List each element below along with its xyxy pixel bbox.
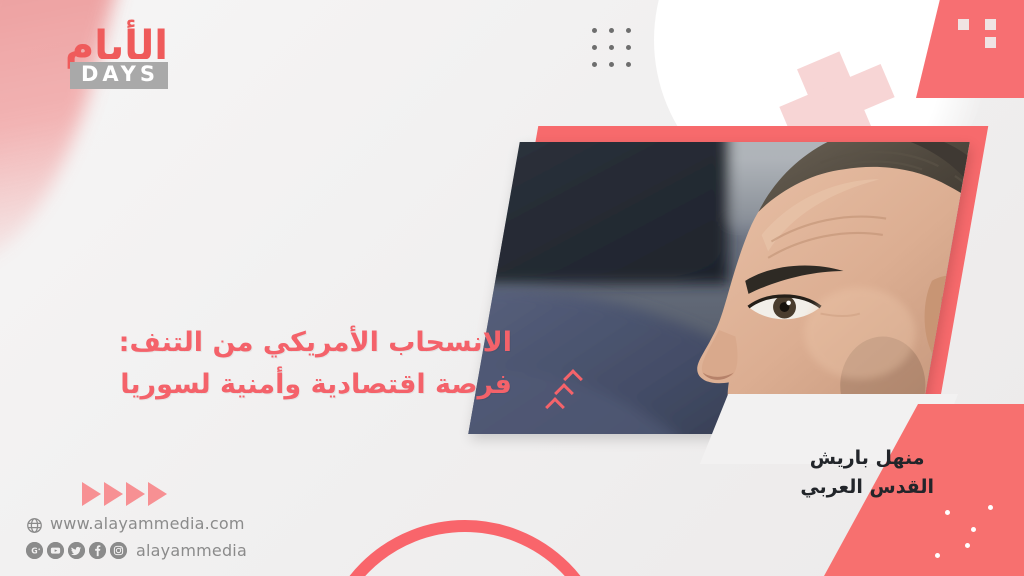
corner-dot: [935, 553, 940, 558]
social-handle[interactable]: alayammedia: [136, 538, 247, 564]
grid-dot: [592, 45, 597, 50]
dot-grid-decoration: [592, 28, 643, 79]
headline-line-1: الانسحاب الأمريكي من التنف:: [119, 327, 512, 358]
website-url[interactable]: www.alayammedia.com: [50, 511, 245, 537]
facebook-icon[interactable]: [89, 542, 106, 559]
grid-dot: [626, 62, 631, 67]
grid-dot: [626, 45, 631, 50]
corner-square-icon: [985, 37, 996, 48]
headline-line-2: فرصة اقتصادية وأمنية لسوريا: [72, 364, 512, 406]
grid-dot: [609, 62, 614, 67]
grid-dot: [592, 28, 597, 33]
author-credit: منهل باريش القدس العربي: [800, 444, 934, 502]
corner-dot: [965, 543, 970, 548]
youtube-icon[interactable]: [47, 542, 64, 559]
news-poster: الأيام DAYS الانسحاب الأمريكي من التنف: …: [0, 0, 1024, 576]
social-row[interactable]: G: [26, 538, 247, 564]
grid-dot: [626, 28, 631, 33]
play-arrow-icon: [82, 482, 101, 506]
headline: الانسحاب الأمريكي من التنف: فرصة اقتصادي…: [72, 322, 512, 406]
portrait-photo: [468, 142, 969, 434]
corner-dot: [971, 527, 976, 532]
corner-square-icon: [985, 19, 996, 30]
instagram-icon[interactable]: [110, 542, 127, 559]
footer: www.alayammedia.com G: [26, 511, 247, 564]
grid-dot: [609, 28, 614, 33]
top-right-red-shape: [916, 0, 1024, 98]
grid-dot: [609, 45, 614, 50]
twitter-icon[interactable]: [68, 542, 85, 559]
play-arrow-icon: [126, 482, 145, 506]
author-source: القدس العربي: [800, 473, 934, 502]
portrait-photo-frame: [468, 142, 969, 434]
website-row[interactable]: www.alayammedia.com: [26, 511, 247, 537]
corner-dot: [988, 505, 993, 510]
author-name: منهل باريش: [800, 444, 934, 473]
svg-text:G: G: [31, 547, 37, 556]
globe-icon: [26, 516, 43, 533]
play-arrow-icon: [148, 482, 167, 506]
googleplus-icon[interactable]: G: [26, 542, 43, 559]
brand-logo[interactable]: الأيام DAYS: [52, 26, 168, 89]
red-ring-decoration: [318, 520, 612, 576]
logo-latin-text: DAYS: [70, 62, 168, 89]
logo-arabic-text: الأيام: [52, 26, 168, 66]
play-arrow-icon: [104, 482, 123, 506]
corner-square-icon: [958, 19, 969, 30]
corner-dot: [945, 510, 950, 515]
grid-dot: [592, 62, 597, 67]
play-arrows-decoration: [82, 482, 167, 506]
